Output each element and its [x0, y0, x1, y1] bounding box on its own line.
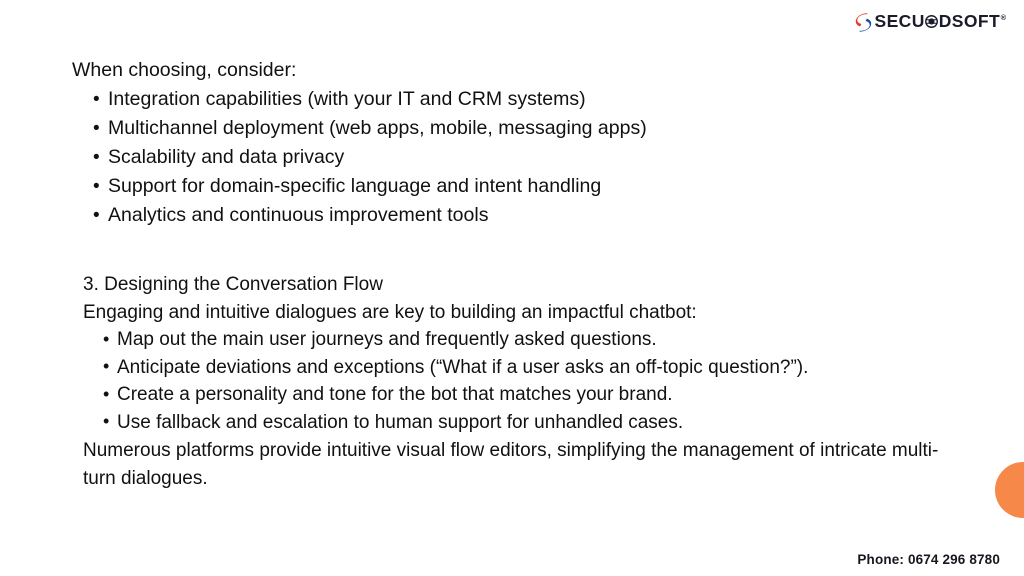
registered-trademark-icon: ®	[1001, 14, 1007, 22]
section-two-bullet-list: Map out the main user journeys and frequ…	[83, 326, 993, 436]
list-item: Map out the main user journeys and frequ…	[83, 326, 993, 354]
section-one-bullet-list: Integration capabilities (with your IT a…	[72, 85, 972, 230]
globe-icon	[925, 15, 938, 28]
list-item: Create a personality and tone for the bo…	[83, 381, 993, 409]
list-item: Analytics and continuous improvement too…	[72, 201, 972, 230]
brand-wordmark: SECU DSOFT ®	[875, 13, 1006, 31]
list-item: Integration capabilities (with your IT a…	[72, 85, 972, 114]
section-two-paragraph: Numerous platforms provide intuitive vis…	[83, 437, 953, 492]
section-two: 3. Designing the Conversation Flow Engag…	[83, 271, 993, 492]
secuodsoft-s-logo-icon	[855, 13, 872, 32]
list-item: Multichannel deployment (web apps, mobil…	[72, 114, 972, 143]
brand-word-part2: DSOFT	[939, 13, 1000, 31]
section-two-title: 3. Designing the Conversation Flow	[83, 271, 993, 299]
footer-phone: Phone: 0674 296 8780	[857, 552, 1000, 567]
section-one: When choosing, consider: Integration cap…	[72, 56, 972, 230]
list-item: Support for domain-specific language and…	[72, 172, 972, 201]
decorative-orange-circle	[995, 462, 1024, 518]
list-item: Anticipate deviations and exceptions (“W…	[83, 354, 993, 382]
list-item: Use fallback and escalation to human sup…	[83, 409, 993, 437]
list-item: Scalability and data privacy	[72, 143, 972, 172]
section-two-lead: Engaging and intuitive dialogues are key…	[83, 299, 993, 327]
section-one-heading: When choosing, consider:	[72, 56, 972, 85]
slide-canvas: SECU DSOFT ® When choosing, consider: In…	[0, 0, 1024, 576]
brand-logo: SECU DSOFT ®	[855, 10, 1006, 34]
brand-word-part1: SECU	[875, 13, 925, 31]
